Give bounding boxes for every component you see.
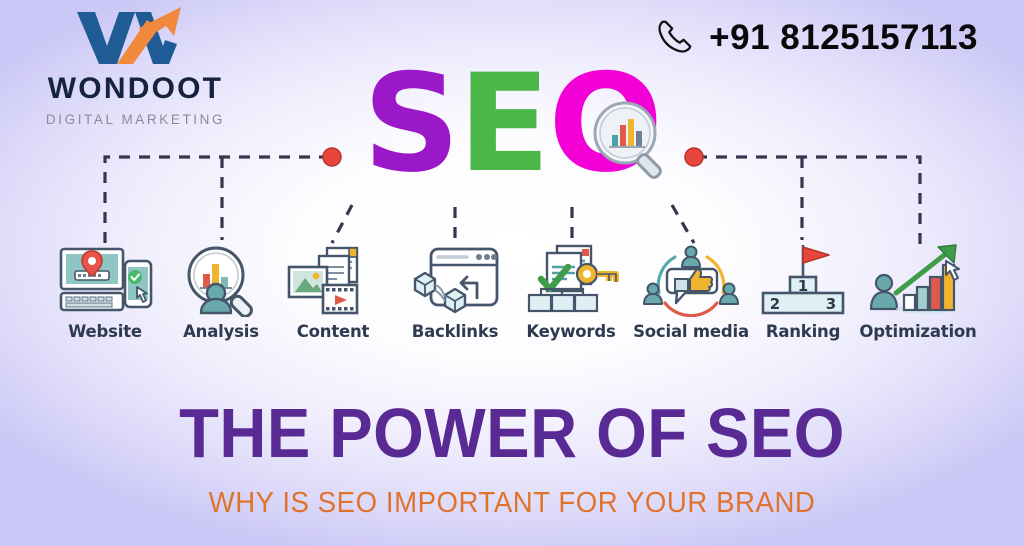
document-key-sitemap-icon	[506, 243, 636, 317]
page-subtitle: WHY IS SEO IMPORTANT FOR YOUR BRAND	[26, 489, 999, 518]
pillar-social-media[interactable]: Social media	[626, 243, 756, 341]
pillar-label: Content	[268, 322, 398, 341]
seo-letter-s: S	[363, 45, 458, 202]
podium-rank-1: 1	[798, 277, 808, 295]
pillar-website[interactable]: Website	[40, 243, 170, 341]
seo-letter-e: E	[458, 45, 548, 202]
seo-wordmark: SEO	[0, 56, 1024, 191]
pillar-keywords[interactable]: Keywords	[506, 243, 636, 341]
pillar-label: Optimization	[853, 322, 983, 341]
pillar-label: Website	[40, 322, 170, 341]
pillar-label: Social media	[626, 322, 756, 341]
magnifier-analytics-person-icon	[156, 243, 286, 317]
seo-infographic-poster: WONDOOT DIGITAL MARKETING +91 8125157113…	[0, 0, 1024, 546]
podium-rank-2: 2	[770, 295, 780, 313]
pillar-label: Keywords	[506, 322, 636, 341]
people-thumbs-up-bubble-icon	[626, 243, 756, 317]
desktop-mobile-website-icon	[40, 243, 170, 317]
image-document-video-content-icon	[268, 243, 398, 317]
pillar-optimization[interactable]: Optimization	[853, 243, 983, 341]
browser-linked-cubes-icon	[390, 243, 520, 317]
podium-flag-icon: 1 2 3	[738, 243, 868, 317]
pillar-content[interactable]: Content	[268, 243, 398, 341]
pillar-ranking[interactable]: 1 2 3 Ranking	[738, 243, 868, 341]
pillar-label: Backlinks	[390, 322, 520, 341]
pillar-label: Analysis	[156, 322, 286, 341]
podium-rank-3: 3	[826, 295, 836, 313]
seo-pillars-row: Website Analysis	[0, 243, 1024, 348]
page-title: THE POWER OF SEO	[36, 398, 988, 468]
phone-handset-icon	[655, 16, 695, 61]
growth-chart-cursor-icon	[853, 243, 983, 317]
magnifier-bar-chart-icon	[585, 95, 677, 187]
pillar-analysis[interactable]: Analysis	[156, 243, 286, 341]
pillar-backlinks[interactable]: Backlinks	[390, 243, 520, 341]
pillar-label: Ranking	[738, 322, 868, 341]
phone-number: +91 8125157113	[709, 18, 978, 58]
